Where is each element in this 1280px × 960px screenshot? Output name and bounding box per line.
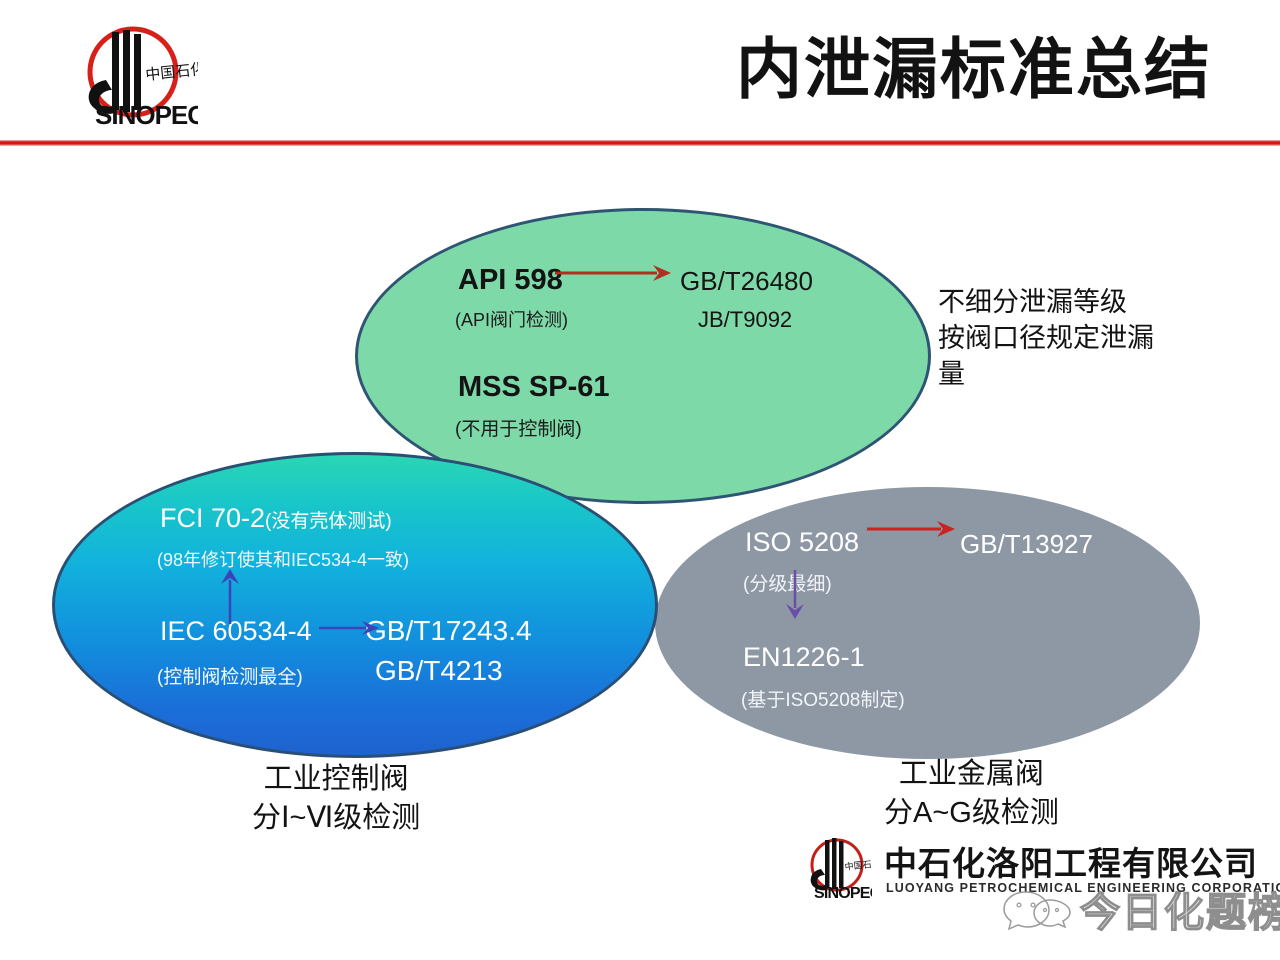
caption-control-valve-line2: 分Ⅰ~Ⅵ级检测 <box>252 799 420 838</box>
standard-iso-5208: ISO 5208 <box>745 527 859 558</box>
watermark-text: 今日化题榜 <box>1080 880 1280 938</box>
standard-fci-70-2: FCI 70-2(没有壳体测试) <box>160 503 392 534</box>
note-leak-grade-line3: 量 <box>938 357 1154 393</box>
caption-metal-valve: 工业金属阀 分A~G级检测 <box>884 755 1059 832</box>
standard-mss-sp-61-note: (不用于控制阀) <box>455 414 582 441</box>
svg-text:SINOPEC: SINOPEC <box>95 100 198 130</box>
caption-metal-valve-line1: 工业金属阀 <box>884 755 1059 794</box>
caption-control-valve: 工业控制阀 分Ⅰ~Ⅵ级检测 <box>252 760 420 837</box>
standard-gbt17243-4: GB/T17243.4 <box>365 615 532 647</box>
watermark: 今日化题榜 <box>1002 882 1278 944</box>
arrow-api598-to-gbt26480-icon <box>553 262 675 289</box>
sinopec-logo: 中国石化 SINOPEC <box>800 833 872 903</box>
standard-gbt26480: GB/T26480 <box>680 266 813 297</box>
standard-gbt4213: GB/T4213 <box>375 655 503 687</box>
arrow-iso5208-to-gbt13927-icon <box>865 518 957 545</box>
svg-text:中国石化: 中国石化 <box>145 61 198 84</box>
arrow-iec60534-to-gbt17243-icon <box>318 618 380 643</box>
standard-api-598: API 598 <box>458 264 563 297</box>
standard-fci-70-2-note: (98年修订使其和IEC534-4一致) <box>157 546 409 572</box>
header-divider <box>0 140 1280 146</box>
svg-text:SINOPEC: SINOPEC <box>814 885 872 902</box>
standard-gbt13927: GB/T13927 <box>960 529 1093 560</box>
svg-text:中国石化: 中国石化 <box>844 857 872 872</box>
wechat-icon <box>1002 886 1074 932</box>
sinopec-logo: 中国石化 SINOPEC <box>68 20 198 132</box>
standard-fci-70-2-inline-note: (没有壳体测试) <box>265 511 392 532</box>
note-leak-grade-line1: 不细分泄漏等级 <box>938 285 1154 321</box>
arrow-iso5208-to-en1226-down-icon <box>780 570 810 625</box>
note-leak-grade: 不细分泄漏等级 按阀口径规定泄漏 量 <box>938 285 1154 393</box>
standard-fci-70-2-label: FCI 70-2 <box>160 503 265 533</box>
caption-metal-valve-line2: 分A~G级检测 <box>884 794 1059 833</box>
note-leak-grade-line2: 按阀口径规定泄漏 <box>938 321 1154 357</box>
standard-en1226-1-note: (基于ISO5208制定) <box>741 685 905 712</box>
standard-mss-sp-61: MSS SP-61 <box>458 371 610 404</box>
company-name-cn: 中石化洛阳工程有限公司 <box>884 837 1258 885</box>
standards-group-control-valve: FCI 70-2(没有壳体测试) (98年修订使其和IEC534-4一致) IE… <box>52 452 658 758</box>
standard-api-598-note: (API阀门检测) <box>455 306 568 332</box>
caption-control-valve-line1: 工业控制阀 <box>252 760 420 799</box>
page-title: 内泄漏标准总结 <box>736 36 1212 102</box>
standard-en1226-1: EN1226-1 <box>743 642 865 673</box>
standard-iec-60534-4-note: (控制阀检测最全) <box>157 662 303 689</box>
arrow-iec-to-fci-up-icon <box>215 568 245 631</box>
standard-jbt9092: JB/T9092 <box>698 307 792 333</box>
